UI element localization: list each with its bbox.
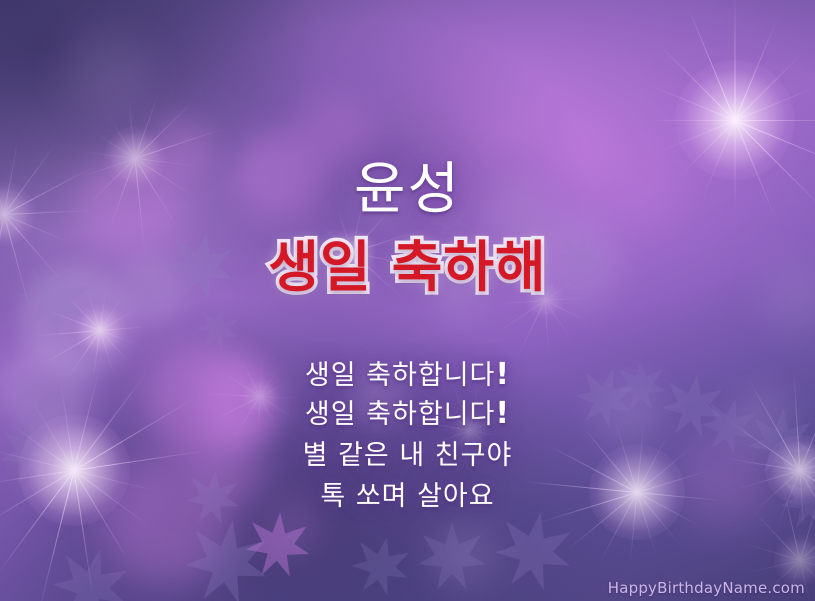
message-line-2: 생일 축하합니다!	[0, 399, 815, 429]
birthday-card: 윤성 생일 축하해 생일 축하합니다! 생일 축하합니다! 별 같은 내 친구야…	[0, 0, 815, 601]
card-text-block: 윤성 생일 축하해 생일 축하합니다! 생일 축하합니다! 별 같은 내 친구야…	[0, 0, 815, 601]
recipient-name: 윤성	[0, 162, 815, 218]
message-line-2-bang: !	[495, 396, 510, 431]
message-line-3-text: 별 같은 내 친구야	[303, 440, 513, 471]
watermark: HappyBirthdayName.com	[608, 579, 805, 597]
message-line-4: 톡 쏘며 살아요	[0, 481, 815, 511]
greeting-title: 생일 축하해	[0, 240, 815, 295]
message-line-3: 별 같은 내 친구야	[0, 440, 815, 470]
message-line-2-text: 생일 축하합니다	[305, 399, 495, 430]
message-line-1-text: 생일 축하합니다	[305, 360, 495, 391]
message-line-1-bang: !	[495, 357, 510, 392]
message-line-4-text: 톡 쏘며 살아요	[320, 481, 494, 512]
message-line-1: 생일 축하합니다!	[0, 360, 815, 390]
